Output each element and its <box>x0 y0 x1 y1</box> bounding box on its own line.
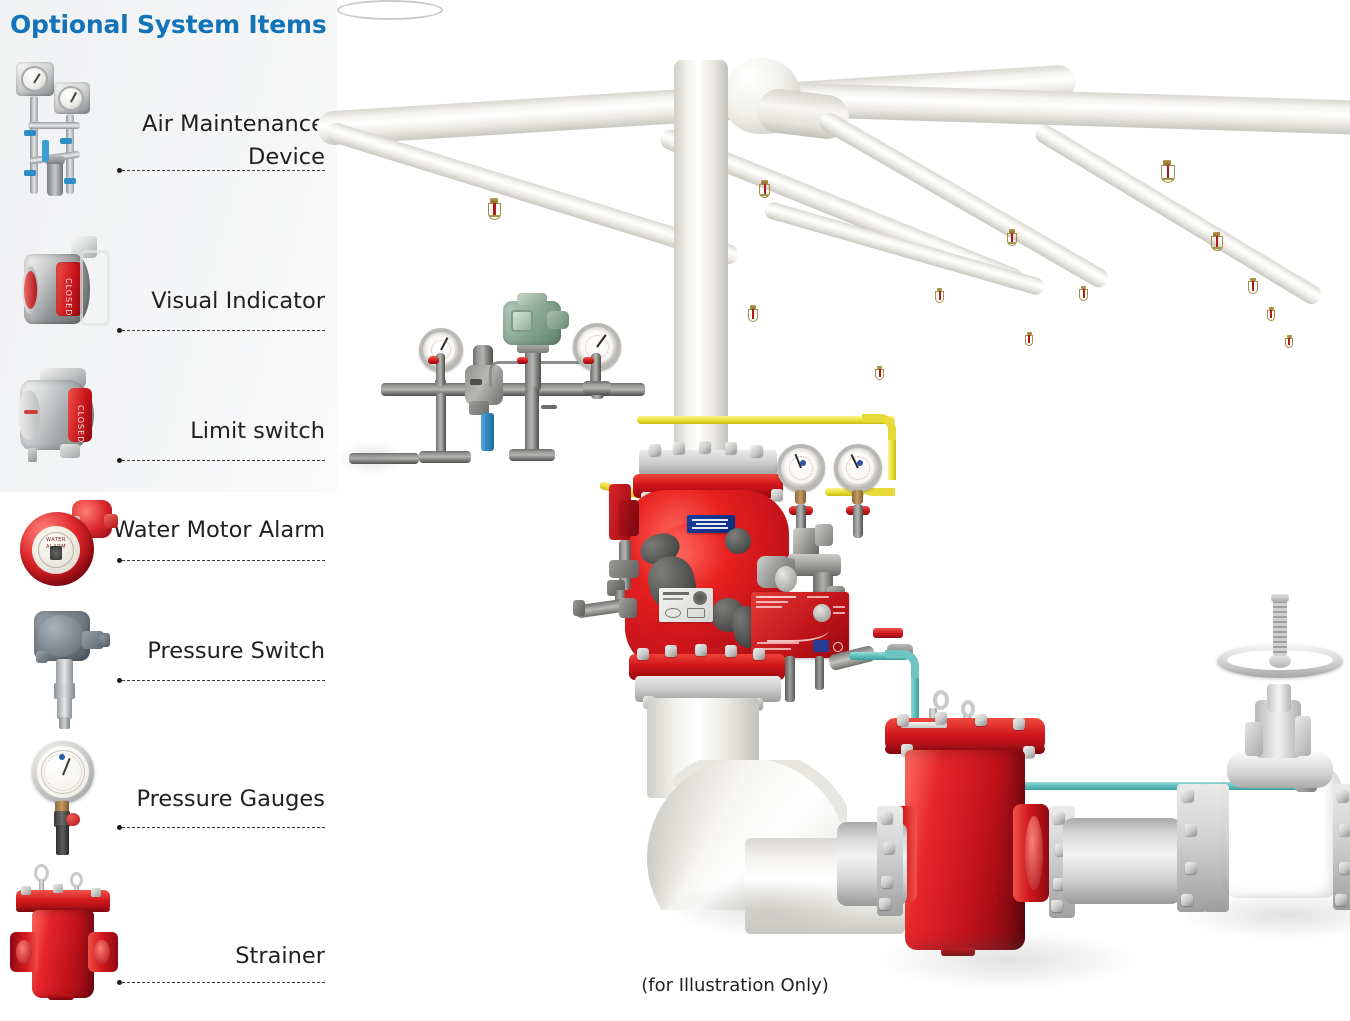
caption-text: (for Illustration Only) <box>641 975 829 996</box>
legend-label: Pressure Switch <box>110 635 325 668</box>
legend-label: Strainer <box>110 940 325 973</box>
manifold-foot-left <box>419 451 471 463</box>
isolation-handle-center[interactable] <box>517 357 528 364</box>
bypass-loop-tube <box>489 361 593 387</box>
strainer-lifting-eye-1 <box>933 690 949 710</box>
air-maintenance-device-thumb <box>8 60 113 215</box>
list-item[interactable]: Limit switch CLOSED <box>0 360 337 475</box>
legend-label: Limit switch <box>110 415 325 448</box>
valve-trim-gauge-left <box>777 444 825 492</box>
pressure-switch-thumb <box>28 607 118 732</box>
list-item[interactable]: Pressure Switch <box>0 605 337 735</box>
transmitter-display-window <box>511 310 533 332</box>
trim-gauge-nipple-right <box>852 490 863 504</box>
pipe-run-between <box>1063 818 1181 904</box>
valve-drain-connection <box>575 596 645 618</box>
leader-line <box>122 827 325 828</box>
vertical-riser-pipe-upper <box>674 60 728 470</box>
valve-nameplate <box>659 588 713 622</box>
gate-valve-yoke-nut <box>1267 684 1291 712</box>
valve-brand-plate <box>687 515 735 533</box>
water-motor-alarm-thumb: WATER ALARM <box>16 494 126 599</box>
list-item[interactable]: Pressure Gauges <box>0 735 337 860</box>
leader-line <box>122 460 325 461</box>
leader-line <box>122 330 325 331</box>
isolation-handle-left[interactable] <box>428 357 439 364</box>
legend-label: Visual Indicator <box>110 285 325 318</box>
branch-line-4 <box>1032 121 1325 307</box>
illustration-caption: (for Illustration Only) <box>0 975 1350 996</box>
legend-label: Air Maintenance Device <box>110 108 325 173</box>
blue-indicator-rod <box>481 413 494 451</box>
valve-boss-right <box>725 528 751 554</box>
isolation-handle-right[interactable] <box>583 357 594 364</box>
handwheel-hub <box>1269 654 1291 668</box>
page-title: Optional System Items <box>10 10 327 39</box>
limit-switch-thumb: CLOSED <box>14 366 114 466</box>
leader-line <box>122 170 325 171</box>
list-item[interactable]: Air Maintenance Device <box>0 60 337 215</box>
leader-line <box>122 560 325 561</box>
label-support-rod <box>785 656 795 702</box>
trim-gauge-nipple-left <box>795 490 806 504</box>
list-item[interactable]: Water Motor Alarm WATER ALARM <box>0 492 337 607</box>
strainer-brand-text: BERMAD <box>914 833 1002 855</box>
gate-valve-stem <box>1273 598 1287 656</box>
legend-label: Water Motor Alarm <box>95 514 325 547</box>
system-illustration: BERMAD <box>337 0 1350 1021</box>
list-item[interactable]: Visual Indicator CLOSED <box>0 230 337 345</box>
leader-line <box>122 680 325 681</box>
manifold-drop-left <box>436 393 446 455</box>
transmitter-conduit-port <box>547 311 569 329</box>
manifold-foot-center <box>509 449 555 461</box>
drain-valve-handle[interactable] <box>873 628 903 638</box>
illustration-page: Optional System Items Air Maintenance De… <box>0 0 1350 1021</box>
visual-indicator-thumb: CLOSED <box>16 234 116 339</box>
basket-strainer: BERMAD <box>885 690 1065 960</box>
valve-trim-gauge-right <box>834 444 882 492</box>
optional-items-panel: Optional System Items Air Maintenance De… <box>0 0 337 1021</box>
pressure-gauge-thumb <box>30 739 122 861</box>
legend-label: Pressure Gauges <box>110 783 325 816</box>
manifold-drop-center <box>525 387 539 453</box>
